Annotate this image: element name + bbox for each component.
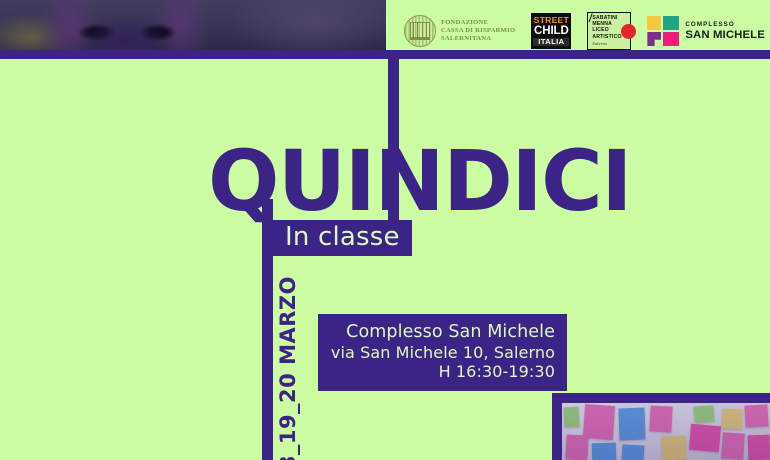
poster-canvas: FONDAZIONE CASSA DI RISPARMIO SALERNITAN… xyxy=(0,0,770,460)
logo-fondazione-line1: FONDAZIONE xyxy=(441,19,515,27)
swatch-magenta xyxy=(663,32,679,46)
logo-sabatini-text: SABATINI MENNA LICEO ARTISTICO Salerno xyxy=(592,15,621,47)
duotone-overlay xyxy=(562,403,770,460)
logo-sabatini-menna-liceo-artistico: SABATINI MENNA LICEO ARTISTICO Salerno xyxy=(587,12,631,50)
venue-name: Complesso San Michele xyxy=(330,322,555,343)
red-dot-icon xyxy=(621,24,636,39)
logo-csm-line1: COMPLESSO xyxy=(685,21,765,29)
divider-vertical-left xyxy=(262,199,273,460)
venue-address: via San Michele 10, Salerno xyxy=(330,343,555,362)
swatch-yellow xyxy=(647,16,661,30)
divider-horizontal-top xyxy=(0,50,770,59)
venue-info-block: Complesso San Michele via San Michele 10… xyxy=(318,314,567,391)
logo-csm-line2: SAN MICHELE xyxy=(685,29,765,41)
page-subtitle: In classe xyxy=(273,220,412,256)
photo-sticky-notes-frame xyxy=(552,393,770,460)
logo-fondazione-text: FONDAZIONE CASSA DI RISPARMIO SALERNITAN… xyxy=(441,19,515,44)
seal-icon xyxy=(404,15,436,47)
sponsor-logo-row: FONDAZIONE CASSA DI RISPARMIO SALERNITAN… xyxy=(404,13,765,49)
swatch-teal xyxy=(663,16,679,30)
logo-street-child-line3: ITALIA xyxy=(533,38,569,46)
venue-hours: H 16:30-19:30 xyxy=(330,362,555,381)
event-dates: 18_19_20 MARZO xyxy=(276,276,300,460)
logo-sabatini-line4: ARTISTICO xyxy=(592,34,621,40)
duotone-overlay xyxy=(0,0,386,50)
logo-complesso-san-michele: COMPLESSO SAN MICHELE xyxy=(647,13,765,49)
logo-sabatini-signature: Salerno xyxy=(592,41,621,47)
logo-street-child-line2: CHILD xyxy=(533,26,569,38)
swatch-purple xyxy=(647,32,661,46)
logo-csm-text: COMPLESSO SAN MICHELE xyxy=(685,21,765,41)
logo-fondazione-line2: CASSA DI RISPARMIO xyxy=(441,27,515,35)
logo-street-child-line1: STREET xyxy=(533,16,569,25)
logo-fondazione-cassa-di-risparmio-salernitana: FONDAZIONE CASSA DI RISPARMIO SALERNITAN… xyxy=(404,13,515,49)
photo-student-eyes xyxy=(0,0,386,50)
page-title: QUINDICI xyxy=(208,144,631,218)
logo-fondazione-line3: SALERNITANA xyxy=(441,35,515,43)
photo-sticky-notes xyxy=(562,403,770,460)
logo-csm-swatch-grid xyxy=(647,16,679,46)
logo-street-child-italia: STREET CHILD ITALIA xyxy=(531,13,571,49)
